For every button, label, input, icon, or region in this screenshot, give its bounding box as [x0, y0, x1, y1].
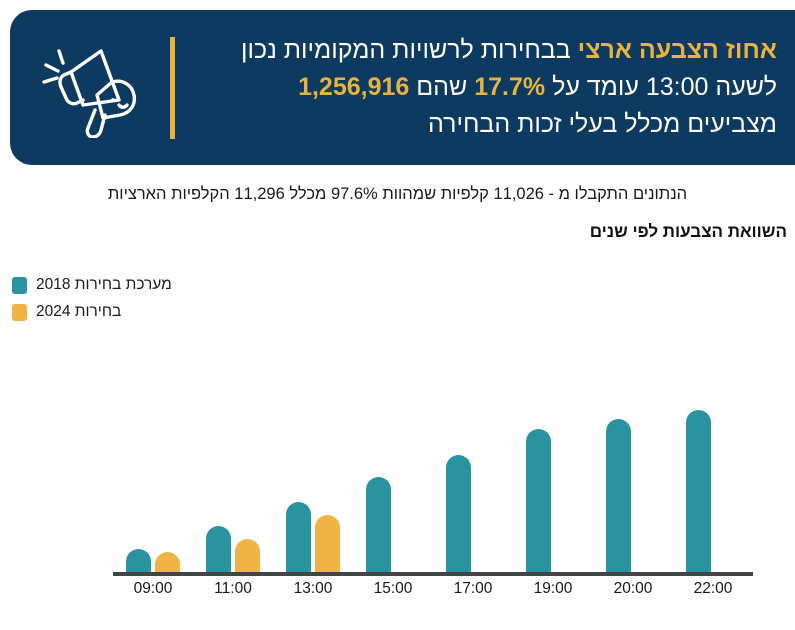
bar-group	[673, 360, 753, 572]
banner-percent-value: 17.7%	[474, 73, 545, 101]
legend-item-2018[interactable]: מערכת בחירות 2018	[12, 276, 172, 294]
bar-1100-series-1[interactable]	[235, 539, 260, 572]
x-axis-label: 19:00	[513, 580, 593, 598]
bar-1900-series-0[interactable]	[526, 429, 551, 572]
legend-label-2018: מערכת בחירות 2018	[36, 276, 172, 294]
bar-1300-series-0[interactable]	[286, 502, 311, 572]
bar-1300-series-1[interactable]	[315, 515, 340, 572]
x-axis-label: 09:00	[113, 580, 193, 598]
legend-item-2024[interactable]: בחירות 2024	[12, 303, 121, 321]
banner-accent-divider	[170, 37, 175, 139]
x-axis-label: 15:00	[353, 580, 433, 598]
turnout-comparison-chart: 09:0011:0013:0015:0017:0019:0020:0022:00	[0, 360, 795, 630]
banner-which-text: שהם	[409, 73, 474, 101]
bar-1500-series-0[interactable]	[366, 477, 391, 572]
bar-2200-series-0[interactable]	[686, 410, 711, 572]
chart-bars-area	[113, 360, 753, 572]
bar-2000-series-0[interactable]	[606, 419, 631, 572]
bar-0900-series-1[interactable]	[155, 552, 180, 572]
legend-label-2024: בחירות 2024	[36, 303, 121, 321]
chart-legend: מערכת בחירות 2018 בחירות 2024	[0, 276, 783, 321]
banner-line-1-rest: בבחירות לרשויות המקומיות נכון	[241, 36, 578, 64]
x-axis-label: 13:00	[273, 580, 353, 598]
banner-line-3: מצביעים מכלל בעלי זכות הבחירה	[205, 106, 777, 143]
bar-group	[513, 360, 593, 572]
bar-1700-series-0[interactable]	[446, 455, 471, 572]
bar-group	[593, 360, 673, 572]
legend-swatch-2018	[12, 277, 27, 294]
legend-swatch-2024	[12, 304, 27, 321]
x-axis-label: 17:00	[433, 580, 513, 598]
bar-group	[353, 360, 433, 572]
bar-group	[433, 360, 513, 572]
bar-group	[273, 360, 353, 572]
x-axis-label: 11:00	[193, 580, 273, 598]
bar-group	[193, 360, 273, 572]
banner-icon-container	[10, 38, 160, 138]
page-title: השוואת הצבעות לפי שנים	[0, 222, 787, 242]
banner-line-2: לשעה 13:00 עומד על 17.7% שהם 1,256,916	[205, 69, 777, 106]
ballot-coverage-note: הנתונים התקבלו מ - 11,026 קלפיות שמהוות …	[0, 182, 795, 206]
banner-line-1: אחוז הצבעה ארצי בבחירות לרשויות המקומיות…	[205, 32, 777, 69]
chart-x-axis-line	[113, 572, 753, 576]
bar-0900-series-0[interactable]	[126, 549, 151, 572]
x-axis-label: 20:00	[593, 580, 673, 598]
chart-x-axis-labels: 09:0011:0013:0015:0017:0019:0020:0022:00	[113, 580, 753, 598]
megaphone-icon	[33, 38, 138, 138]
bar-group	[113, 360, 193, 572]
banner-text: אחוז הצבעה ארצי בבחירות לרשויות המקומיות…	[175, 32, 795, 143]
turnout-banner: אחוז הצבעה ארצי בבחירות לרשויות המקומיות…	[10, 10, 795, 165]
banner-highlight-turnout: אחוז הצבעה ארצי	[578, 36, 777, 64]
banner-voter-count: 1,256,916	[298, 73, 409, 101]
x-axis-label: 22:00	[673, 580, 753, 598]
banner-time-text: לשעה 13:00 עומד על	[545, 73, 777, 101]
bar-1100-series-0[interactable]	[206, 526, 231, 572]
